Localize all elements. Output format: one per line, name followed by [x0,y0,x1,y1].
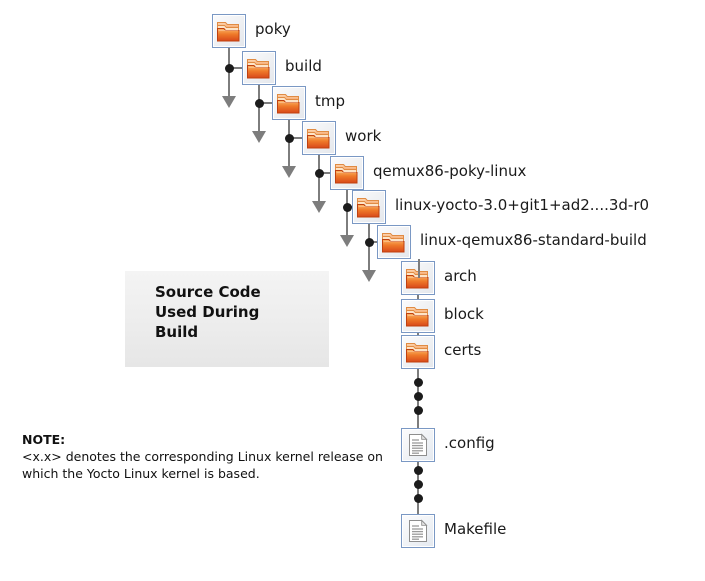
connector-block-certs [417,333,419,335]
folder-glyph [246,55,272,81]
connector-stem-build [258,85,260,133]
tree-node-label-linux-yocto: linux-yocto-3.0+git1+ad2....3d-r0 [395,196,649,214]
folder-glyph [381,229,407,255]
arrowhead-poky [222,96,236,108]
tree-node-label-work: work [345,127,381,145]
ellipsis-dot-ellipsis-certs-config-1 [414,392,423,401]
folder-glyph [356,194,382,220]
document-glyph [405,518,431,544]
folder-glyph [405,303,431,329]
document-icon[interactable] [401,428,435,462]
connector-stem-tmp [288,120,290,168]
tree-node-label-certs: certs [444,341,481,359]
connector-stem-linux-yocto [368,224,370,272]
document-icon[interactable] [401,514,435,548]
source-code-callout-text: Source Code Used During Build [155,282,261,342]
arrowhead-qemux86 [340,235,354,247]
connector-stem-poky [228,48,230,98]
folder-icon[interactable] [242,51,276,85]
tree-node-label-config: .config [444,434,495,452]
folder-glyph [306,125,332,151]
folder-icon[interactable] [212,14,246,48]
tree-node-label-poky: poky [255,20,291,38]
junction-dot-linux-yocto [343,203,352,212]
tree-node-label-arch: arch [444,267,477,285]
directory-tree-diagram: pokybuildtmpworkqemux86-poky-linuxlinux-… [0,0,705,581]
folder-icon[interactable] [302,121,336,155]
arrowhead-linux-yocto [362,270,376,282]
arrowhead-build [252,131,266,143]
junction-dot-tmp [255,99,264,108]
junction-dot-standard-build [365,238,374,247]
tree-node-label-standard-build: linux-qemux86-standard-build [420,231,647,249]
folder-glyph [276,90,302,116]
folder-icon[interactable] [272,86,306,120]
ellipsis-dot-ellipsis-certs-config-2 [414,406,423,415]
document-glyph [405,432,431,458]
folder-icon[interactable] [401,299,435,333]
ellipsis-dot-ellipsis-certs-config-0 [414,378,423,387]
tree-node-label-block: block [444,305,484,323]
arrowhead-tmp [282,166,296,178]
note-body: <x.x> denotes the corresponding Linux ke… [22,448,383,482]
tree-node-label-qemux86: qemux86-poky-linux [373,162,526,180]
folder-glyph [405,339,431,365]
ellipsis-dot-ellipsis-config-makefile-1 [414,480,423,489]
ellipsis-dot-ellipsis-config-makefile-2 [414,494,423,503]
ellipsis-dot-ellipsis-config-makefile-0 [414,466,423,475]
connector-stem-work [318,155,320,203]
folder-glyph [216,18,242,44]
folder-icon[interactable] [377,225,411,259]
connector-arch-block [417,295,419,299]
arrowhead-work [312,201,326,213]
tree-node-label-build: build [285,57,322,75]
junction-dot-qemux86 [315,169,324,178]
note-title: NOTE: [22,431,383,448]
folder-icon[interactable] [352,190,386,224]
tree-node-label-makefile: Makefile [444,520,506,538]
folder-icon[interactable] [330,156,364,190]
folder-glyph [334,160,360,186]
folder-icon[interactable] [401,335,435,369]
junction-dot-build [225,64,234,73]
connector-stem-qemux86 [346,190,348,237]
tree-node-label-tmp: tmp [315,92,345,110]
junction-dot-work [285,134,294,143]
connector-elbow-vertical-arch [418,259,420,278]
note-block: NOTE:<x.x> denotes the corresponding Lin… [22,431,383,482]
